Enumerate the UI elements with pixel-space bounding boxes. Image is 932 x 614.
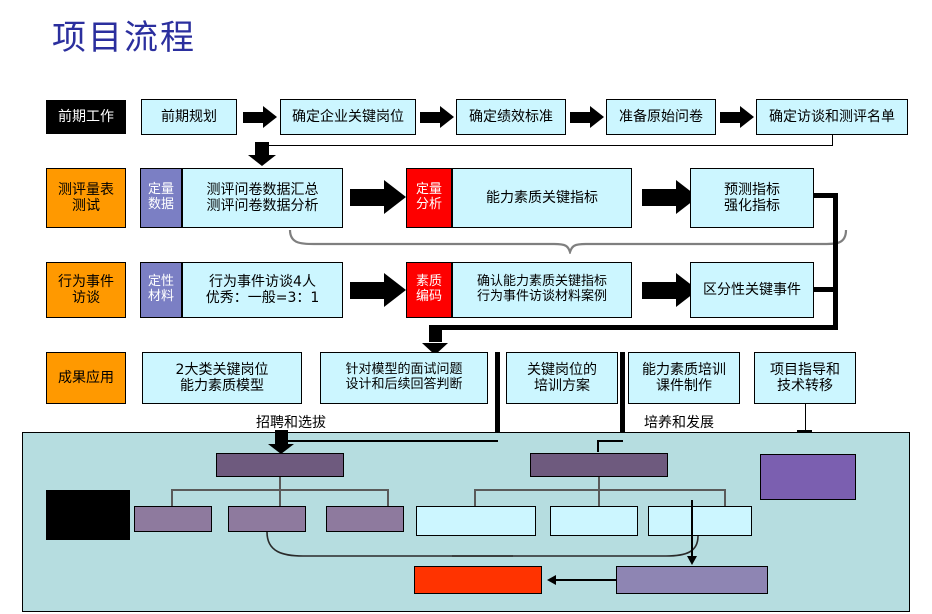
training-node[interactable] xyxy=(760,454,856,500)
arrow-down-icon xyxy=(248,142,276,166)
row4-item-5[interactable]: 项目指导和 技术转移 xyxy=(754,352,856,404)
arrow-right-icon xyxy=(570,106,604,128)
row3-input-tag: 定性 材料 xyxy=(140,262,182,318)
arrow-down-icon xyxy=(687,556,697,565)
connector-line xyxy=(495,352,500,442)
row3-mid-body[interactable]: 确认能力素质关键指标 行为事件访谈材料案例 xyxy=(452,262,632,318)
connector-line xyxy=(279,477,281,506)
row4-item-4[interactable]: 能力素质培训 课件制作 xyxy=(628,352,740,404)
row4-tag: 成果应用 xyxy=(46,352,126,404)
connector-line xyxy=(814,287,838,292)
deploy-node[interactable] xyxy=(414,566,542,594)
page-title: 项目流程 xyxy=(52,10,196,59)
back-node[interactable] xyxy=(530,453,668,477)
row1-step-1[interactable]: 前期规划 xyxy=(141,99,237,135)
row3-mid-tag: 素质 编码 xyxy=(406,262,452,318)
arrow-right-icon xyxy=(420,106,454,128)
bottom-tag xyxy=(46,490,130,540)
arrow-right-icon xyxy=(720,106,754,128)
row4-item-1[interactable]: 2大类关键岗位 能力素质模型 xyxy=(142,352,302,404)
row3-input-body[interactable]: 行为事件访谈4人 优秀：一般=3：1 xyxy=(182,262,343,318)
connector-line xyxy=(433,325,838,330)
back-child-2[interactable] xyxy=(550,506,638,536)
row3-tag: 行为事件 访谈 xyxy=(46,262,126,318)
connector-line xyxy=(280,440,498,442)
group-label-development: 培养和发展 xyxy=(644,412,714,432)
manual-node[interactable] xyxy=(616,566,768,594)
back-child-3[interactable] xyxy=(648,506,752,536)
grouping-brace xyxy=(288,228,848,254)
connector-line xyxy=(833,193,838,330)
row2-output[interactable]: 预测指标 强化指标 xyxy=(690,168,814,228)
row2-mid-tag: 定量 分析 xyxy=(406,168,452,228)
arrow-down-icon xyxy=(268,430,294,454)
front-child-2[interactable] xyxy=(228,506,306,532)
row4-item-3[interactable]: 关键岗位的 培训方案 xyxy=(506,352,618,404)
connector-line xyxy=(262,145,833,146)
row2-input-body[interactable]: 测评问卷数据汇总 测评问卷数据分析 xyxy=(182,168,343,228)
connector-line xyxy=(474,489,726,491)
row3-output[interactable]: 区分性关键事件 xyxy=(690,262,814,318)
flowchart-canvas: 项目流程 前期工作 前期规划 确定企业关键岗位 确定绩效标准 准备原始问卷 确定… xyxy=(0,0,932,614)
connector-line xyxy=(805,404,806,430)
row1-step-3[interactable]: 确定绩效标准 xyxy=(456,99,566,135)
row1-step-5[interactable]: 确定访谈和测评名单 xyxy=(756,99,908,135)
connector-line xyxy=(556,579,616,581)
row1-step-4[interactable]: 准备原始问卷 xyxy=(606,99,716,135)
connector-line xyxy=(171,489,173,506)
row2-tag: 测评量表 测试 xyxy=(46,168,126,228)
connector-line xyxy=(387,489,389,506)
row2-mid-body[interactable]: 能力素质关键指标 xyxy=(452,168,632,228)
connector-line xyxy=(597,440,599,452)
arrow-right-icon xyxy=(350,273,406,307)
front-child-1[interactable] xyxy=(134,506,212,532)
row1-step-2[interactable]: 确定企业关键岗位 xyxy=(280,99,416,135)
row4-item-2[interactable]: 针对模型的面试问题 设计和后续回答判断 xyxy=(320,352,488,404)
arrow-left-icon xyxy=(547,575,556,585)
front-child-3[interactable] xyxy=(326,506,404,532)
connector-line xyxy=(691,500,693,558)
connector-line xyxy=(598,477,600,506)
row1-tag: 前期工作 xyxy=(46,100,126,134)
row2-input-tag: 定量 数据 xyxy=(140,168,182,228)
front-node[interactable] xyxy=(216,453,344,477)
connector-line xyxy=(597,440,623,442)
connector-line xyxy=(474,489,476,506)
connector-line xyxy=(171,489,389,491)
connector-line xyxy=(620,352,625,442)
arrow-right-icon xyxy=(350,180,406,214)
arrow-right-icon xyxy=(243,106,277,128)
arrow-down-icon xyxy=(422,325,448,355)
connector-line xyxy=(724,489,726,506)
group-label-recruiting: 招聘和选拔 xyxy=(256,412,326,432)
